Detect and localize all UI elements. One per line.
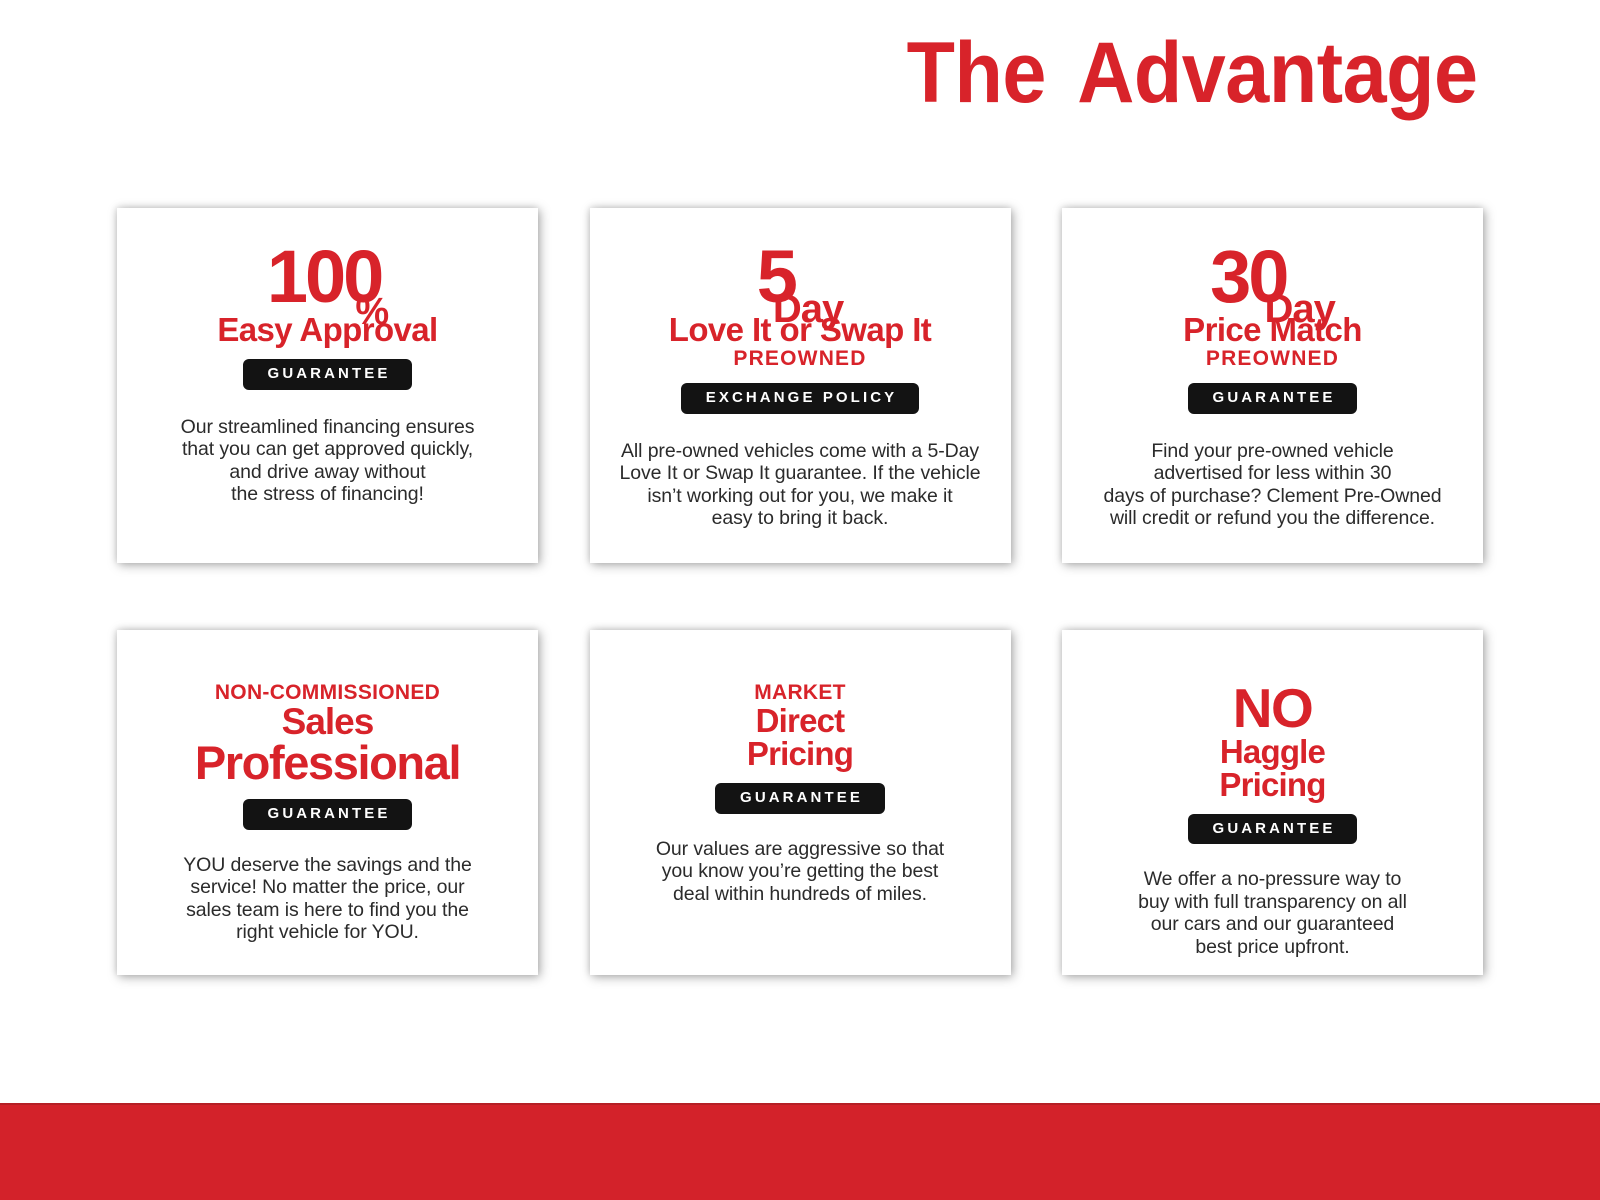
card-row-2: NON-COMMISSIONED Sales Professional GUAR… (117, 630, 1483, 975)
no-haggle-badge-wrap: GUARANTEE (1062, 814, 1483, 845)
page-title-part2: Advantage (1078, 25, 1478, 121)
status-badge-exchange-policy: EXCHANGE POLICY (681, 383, 920, 414)
direct-pricing-line-b: Pricing (590, 737, 1011, 770)
card-love-it-or-swap-it[interactable]: 5Day Love It or Swap It PREOWNED EXCHANG… (590, 208, 1011, 563)
no-haggle-description: We offer a no-pressure way to buy with f… (1116, 868, 1429, 958)
advantage-page: TheAdvantage 100% Easy Approval GUARANTE… (0, 0, 1600, 1200)
sales-professional-line-a: Sales (117, 704, 538, 740)
card-price-match-headline: 30Day Price Match PREOWNED (1062, 242, 1483, 370)
card-row-1: 100% Easy Approval GUARANTEE Our streaml… (117, 208, 1483, 563)
page-title: TheAdvantage (0, 28, 1600, 118)
card-love-it-or-swap-it-headline: 5Day Love It or Swap It PREOWNED (590, 242, 1011, 370)
page-title-part1: The (907, 25, 1046, 121)
card-sales-professional-headline: NON-COMMISSIONED Sales Professional (117, 682, 538, 786)
status-badge-guarantee: GUARANTEE (715, 783, 885, 814)
card-easy-approval[interactable]: 100% Easy Approval GUARANTEE Our streaml… (117, 208, 538, 563)
direct-pricing-badge-wrap: GUARANTEE (590, 783, 1011, 814)
card-sales-professional[interactable]: NON-COMMISSIONED Sales Professional GUAR… (117, 630, 538, 975)
status-badge-guarantee: GUARANTEE (1188, 814, 1358, 845)
advantage-card-grid: 100% Easy Approval GUARANTEE Our streaml… (117, 208, 1483, 975)
no-haggle-bigword: NO (1062, 682, 1483, 735)
easy-approval-description: Our streamlined financing ensures that y… (159, 416, 497, 506)
swap-bignum-group: 5Day (757, 242, 844, 312)
easy-approval-bignum-group: 100% (267, 242, 388, 312)
footer-bar (0, 1103, 1600, 1200)
no-haggle-line-a: Haggle (1062, 735, 1483, 768)
card-easy-approval-headline: 100% Easy Approval (117, 242, 538, 346)
sales-professional-description: YOU deserve the savings and the service!… (161, 854, 494, 944)
direct-pricing-description: Our values are aggressive so that you kn… (634, 838, 966, 906)
no-haggle-line-b: Pricing (1062, 768, 1483, 801)
easy-approval-badge-wrap: GUARANTEE (117, 359, 538, 390)
direct-pricing-eyebrow: MARKET (590, 682, 1011, 704)
card-price-match[interactable]: 30Day Price Match PREOWNED GUARANTEE Fin… (1062, 208, 1483, 563)
price-match-day-label: Day (1264, 289, 1334, 329)
swap-description: All pre-owned vehicles come with a 5-Day… (598, 440, 1003, 530)
card-no-haggle-pricing[interactable]: NO Haggle Pricing GUARANTEE We offer a n… (1062, 630, 1483, 975)
swap-badge-wrap: EXCHANGE POLICY (590, 383, 1011, 414)
easy-approval-percent-symbol: % (355, 293, 388, 331)
status-badge-guarantee: GUARANTEE (1188, 383, 1358, 414)
status-badge-guarantee: GUARANTEE (243, 799, 413, 830)
page-title-text: TheAdvantage (907, 28, 1478, 118)
sales-professional-line-b: Professional (117, 740, 538, 786)
swap-day-label: Day (773, 289, 843, 329)
card-direct-pricing[interactable]: MARKET Direct Pricing GUARANTEE Our valu… (590, 630, 1011, 975)
price-match-description: Find your pre-owned vehicle advertised f… (1082, 440, 1464, 530)
card-no-haggle-pricing-headline: NO Haggle Pricing (1062, 682, 1483, 801)
direct-pricing-line-a: Direct (590, 704, 1011, 737)
status-badge-guarantee: GUARANTEE (243, 359, 413, 390)
card-direct-pricing-headline: MARKET Direct Pricing (590, 682, 1011, 770)
sales-professional-badge-wrap: GUARANTEE (117, 799, 538, 830)
price-match-bignum-group: 30Day (1210, 242, 1335, 312)
price-match-sub-line: PREOWNED (1062, 348, 1483, 370)
swap-sub-line: PREOWNED (590, 348, 1011, 370)
price-match-badge-wrap: GUARANTEE (1062, 383, 1483, 414)
